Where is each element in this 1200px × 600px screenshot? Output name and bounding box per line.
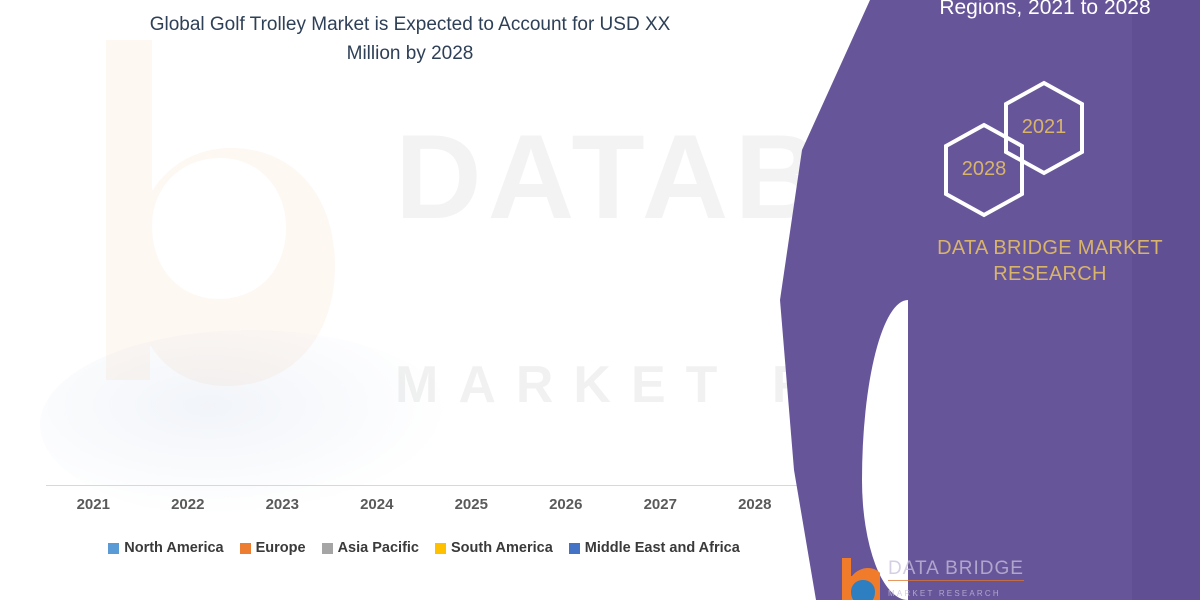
legend-label: Middle East and Africa xyxy=(585,540,740,556)
bars-container xyxy=(46,100,802,485)
brand-logo: 2028 2021 DATA BRIDGE MARKET RESEARCH xyxy=(900,86,1200,316)
bar-column xyxy=(330,100,425,485)
x-axis-tick-label: 2024 xyxy=(330,496,425,513)
corner-logo-text-block: DATA BRIDGE MARKET RESEARCH xyxy=(888,558,1024,600)
legend-swatch-icon xyxy=(322,543,333,554)
legend-label: South America xyxy=(451,540,553,556)
bar-column xyxy=(235,100,330,485)
x-axis-tick-label: 2022 xyxy=(141,496,236,513)
x-axis-line xyxy=(46,485,802,486)
hexagon-2021: 2021 xyxy=(1002,80,1086,176)
bar-column xyxy=(141,100,236,485)
x-axis-tick-label: 2028 xyxy=(708,496,803,513)
legend-label: Europe xyxy=(256,540,306,556)
legend-item[interactable]: North America xyxy=(108,540,223,556)
legend-item[interactable]: South America xyxy=(435,540,553,556)
hexagon-2021-label: 2021 xyxy=(1002,116,1086,139)
bar-column xyxy=(46,100,141,485)
corner-logo: DATA BRIDGE MARKET RESEARCH xyxy=(838,556,1024,600)
legend-label: North America xyxy=(124,540,223,556)
legend-swatch-icon xyxy=(435,543,446,554)
brand-name: DATA BRIDGE MARKET RESEARCH xyxy=(900,235,1200,287)
legend-item[interactable]: Europe xyxy=(240,540,306,556)
infographic-root: DATABRIDGE MARKET RESEARCH Global Golf T… xyxy=(0,0,1200,600)
legend-swatch-icon xyxy=(569,543,580,554)
x-axis-tick-label: 2025 xyxy=(424,496,519,513)
corner-logo-title: DATA BRIDGE xyxy=(888,558,1024,579)
bar-column xyxy=(519,100,614,485)
x-axis-labels: 20212022202320242025202620272028 xyxy=(46,496,802,513)
corner-logo-subtitle: MARKET RESEARCH xyxy=(888,580,1024,600)
legend-item[interactable]: Middle East and Africa xyxy=(569,540,740,556)
x-axis-tick-label: 2026 xyxy=(519,496,614,513)
legend-item[interactable]: Asia Pacific xyxy=(322,540,419,556)
legend-label: Asia Pacific xyxy=(338,540,419,556)
bar-column xyxy=(613,100,708,485)
chart-legend: North AmericaEuropeAsia PacificSouth Ame… xyxy=(46,540,802,556)
stacked-bar-chart: 20212022202320242025202620272028 North A… xyxy=(0,0,870,600)
legend-swatch-icon xyxy=(240,543,251,554)
x-axis-tick-label: 2027 xyxy=(613,496,708,513)
chart-area: DATABRIDGE MARKET RESEARCH Global Golf T… xyxy=(0,0,870,600)
panel-heading: Regions, 2021 to 2028 xyxy=(900,0,1190,21)
x-axis-tick-label: 2023 xyxy=(235,496,330,513)
bar-column xyxy=(424,100,519,485)
hexagon-pair: 2028 2021 xyxy=(900,86,1200,231)
x-axis-tick-label: 2021 xyxy=(46,496,141,513)
corner-logo-mark xyxy=(838,556,880,600)
legend-swatch-icon xyxy=(108,543,119,554)
